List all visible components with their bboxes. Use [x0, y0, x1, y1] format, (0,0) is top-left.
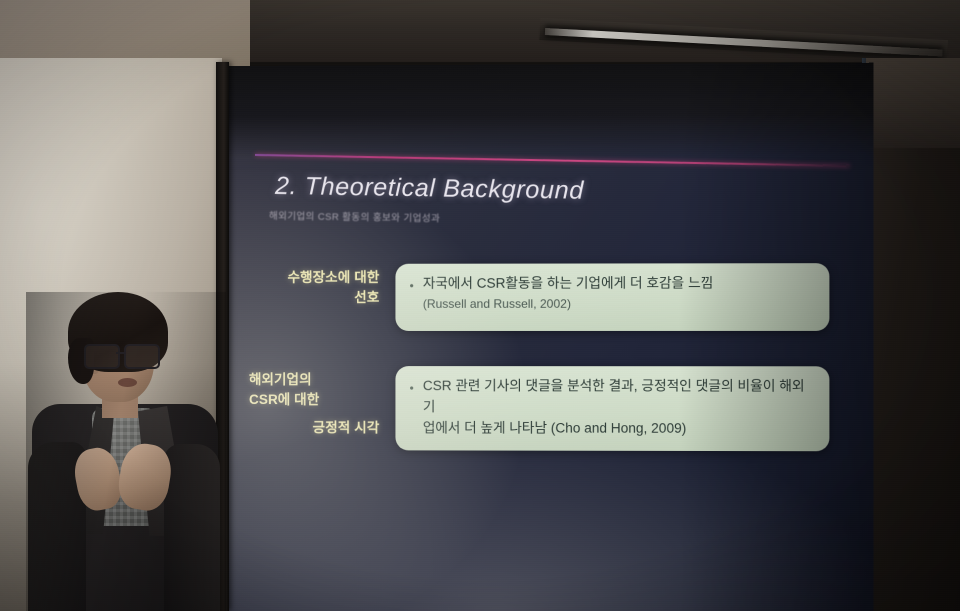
- ceiling-left-panel: [0, 0, 250, 66]
- slide-row-1-label-line1: 수행장소에 대한: [249, 268, 379, 288]
- slide-row-1: 수행장소에 대한 선호 • 자국에서 CSR활동을 하는 기업에게 더 호감을 …: [249, 263, 829, 331]
- glasses-lens-right: [124, 344, 160, 369]
- projection-screen: 2. Theoretical Background 해외기업의 CSR 활동의 …: [229, 63, 873, 611]
- slide-row-2-text-line2: 업에서 더 높게 나타남 (Cho and Hong, 2009): [423, 418, 815, 440]
- slide-row-2: 해외기업의 CSR에 대한 긍정적 시각 • CSR 관련 기사의 댓글을 분석…: [249, 366, 829, 451]
- slide-row-1-box: • 자국에서 CSR활동을 하는 기업에게 더 호감을 느낌 (Russell …: [395, 263, 829, 331]
- slide-row-1-citation: (Russell and Russell, 2002): [423, 295, 714, 314]
- presenter-figure: [26, 292, 226, 611]
- slide-row-2-box: • CSR 관련 기사의 댓글을 분석한 결과, 긍정적인 댓글의 비율이 해외…: [395, 366, 829, 451]
- glasses-icon: [84, 344, 162, 366]
- slide-top-shadow: [229, 63, 873, 158]
- slide-row-2-label-gap: [249, 409, 379, 418]
- bullet-icon: •: [406, 274, 423, 320]
- slide-title: 2. Theoretical Background: [275, 172, 584, 206]
- presenter-arm-right: [164, 444, 220, 611]
- glasses-lens-left: [84, 344, 120, 369]
- presenter-mouth: [118, 378, 137, 387]
- lecture-room-photo: 2. Theoretical Background 해외기업의 CSR 활동의 …: [0, 0, 960, 611]
- slide-row-1-label-line2: 선호: [249, 287, 379, 307]
- slide-row-2-label: 해외기업의 CSR에 대한 긍정적 시각: [249, 366, 379, 438]
- slide-row-1-text: 자국에서 CSR활동을 하는 기업에게 더 호감을 느낌: [423, 273, 714, 294]
- slide-row-1-body: 자국에서 CSR활동을 하는 기업에게 더 호감을 느낌 (Russell an…: [423, 273, 714, 320]
- slide-row-2-label-line2: CSR에 대한: [249, 390, 379, 410]
- slide-subtitle: 해외기업의 CSR 활동의 홍보와 기업성과: [269, 208, 440, 225]
- slide-row-2-text: CSR 관련 기사의 댓글을 분석한 결과, 긍정적인 댓글의 비율이 해외 기: [423, 376, 815, 419]
- slide-row-1-label: 수행장소에 대한 선호: [249, 264, 379, 307]
- slide-row-2-label-line1: 해외기업의: [249, 370, 379, 390]
- slide-row-2-body: CSR 관련 기사의 댓글을 분석한 결과, 긍정적인 댓글의 비율이 해외 기…: [423, 376, 815, 440]
- bullet-icon: •: [406, 376, 423, 439]
- right-wall-upper: [866, 58, 960, 148]
- slide-row-2-label-line3: 긍정적 시각: [249, 418, 379, 438]
